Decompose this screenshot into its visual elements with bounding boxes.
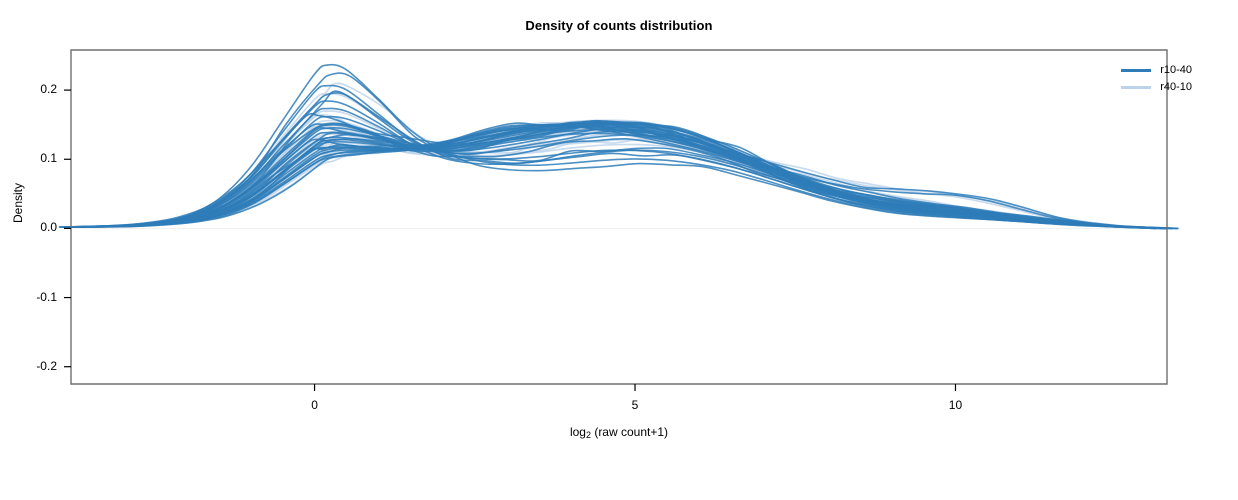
- y-tick-label: -0.2: [17, 359, 57, 373]
- density-curve: [82, 122, 1178, 228]
- legend-swatch-r40-10: [1121, 86, 1151, 89]
- x-tick-label: 0: [295, 398, 335, 412]
- x-axis-label: log2 (raw count+1): [0, 425, 1238, 439]
- density-curve: [81, 122, 1177, 228]
- x-axis-label-main: log: [570, 425, 586, 439]
- density-plot-figure: Density of counts distribution Density l…: [0, 0, 1238, 500]
- y-tick-label: -0.1: [17, 290, 57, 304]
- legend-label-r40-10: r40-10: [1160, 82, 1192, 93]
- legend: r10-40 r40-10: [1121, 62, 1192, 96]
- y-tick-label: 0.2: [17, 82, 57, 96]
- legend-item-r10-40[interactable]: r10-40: [1121, 62, 1192, 79]
- x-tick-label: 10: [935, 398, 975, 412]
- x-tick-label: 5: [615, 398, 655, 412]
- y-tick-label: 0.1: [17, 151, 57, 165]
- legend-swatch-r10-40: [1121, 69, 1151, 72]
- legend-label-r10-40: r10-40: [1160, 65, 1192, 76]
- legend-item-r40-10[interactable]: r40-10: [1121, 79, 1192, 96]
- series-group-r10-40: [60, 65, 1178, 229]
- x-axis-label-rest: (raw count+1): [591, 425, 668, 439]
- y-tick-label: 0.0: [17, 220, 57, 234]
- x-axis-label-sub: 2: [586, 430, 591, 440]
